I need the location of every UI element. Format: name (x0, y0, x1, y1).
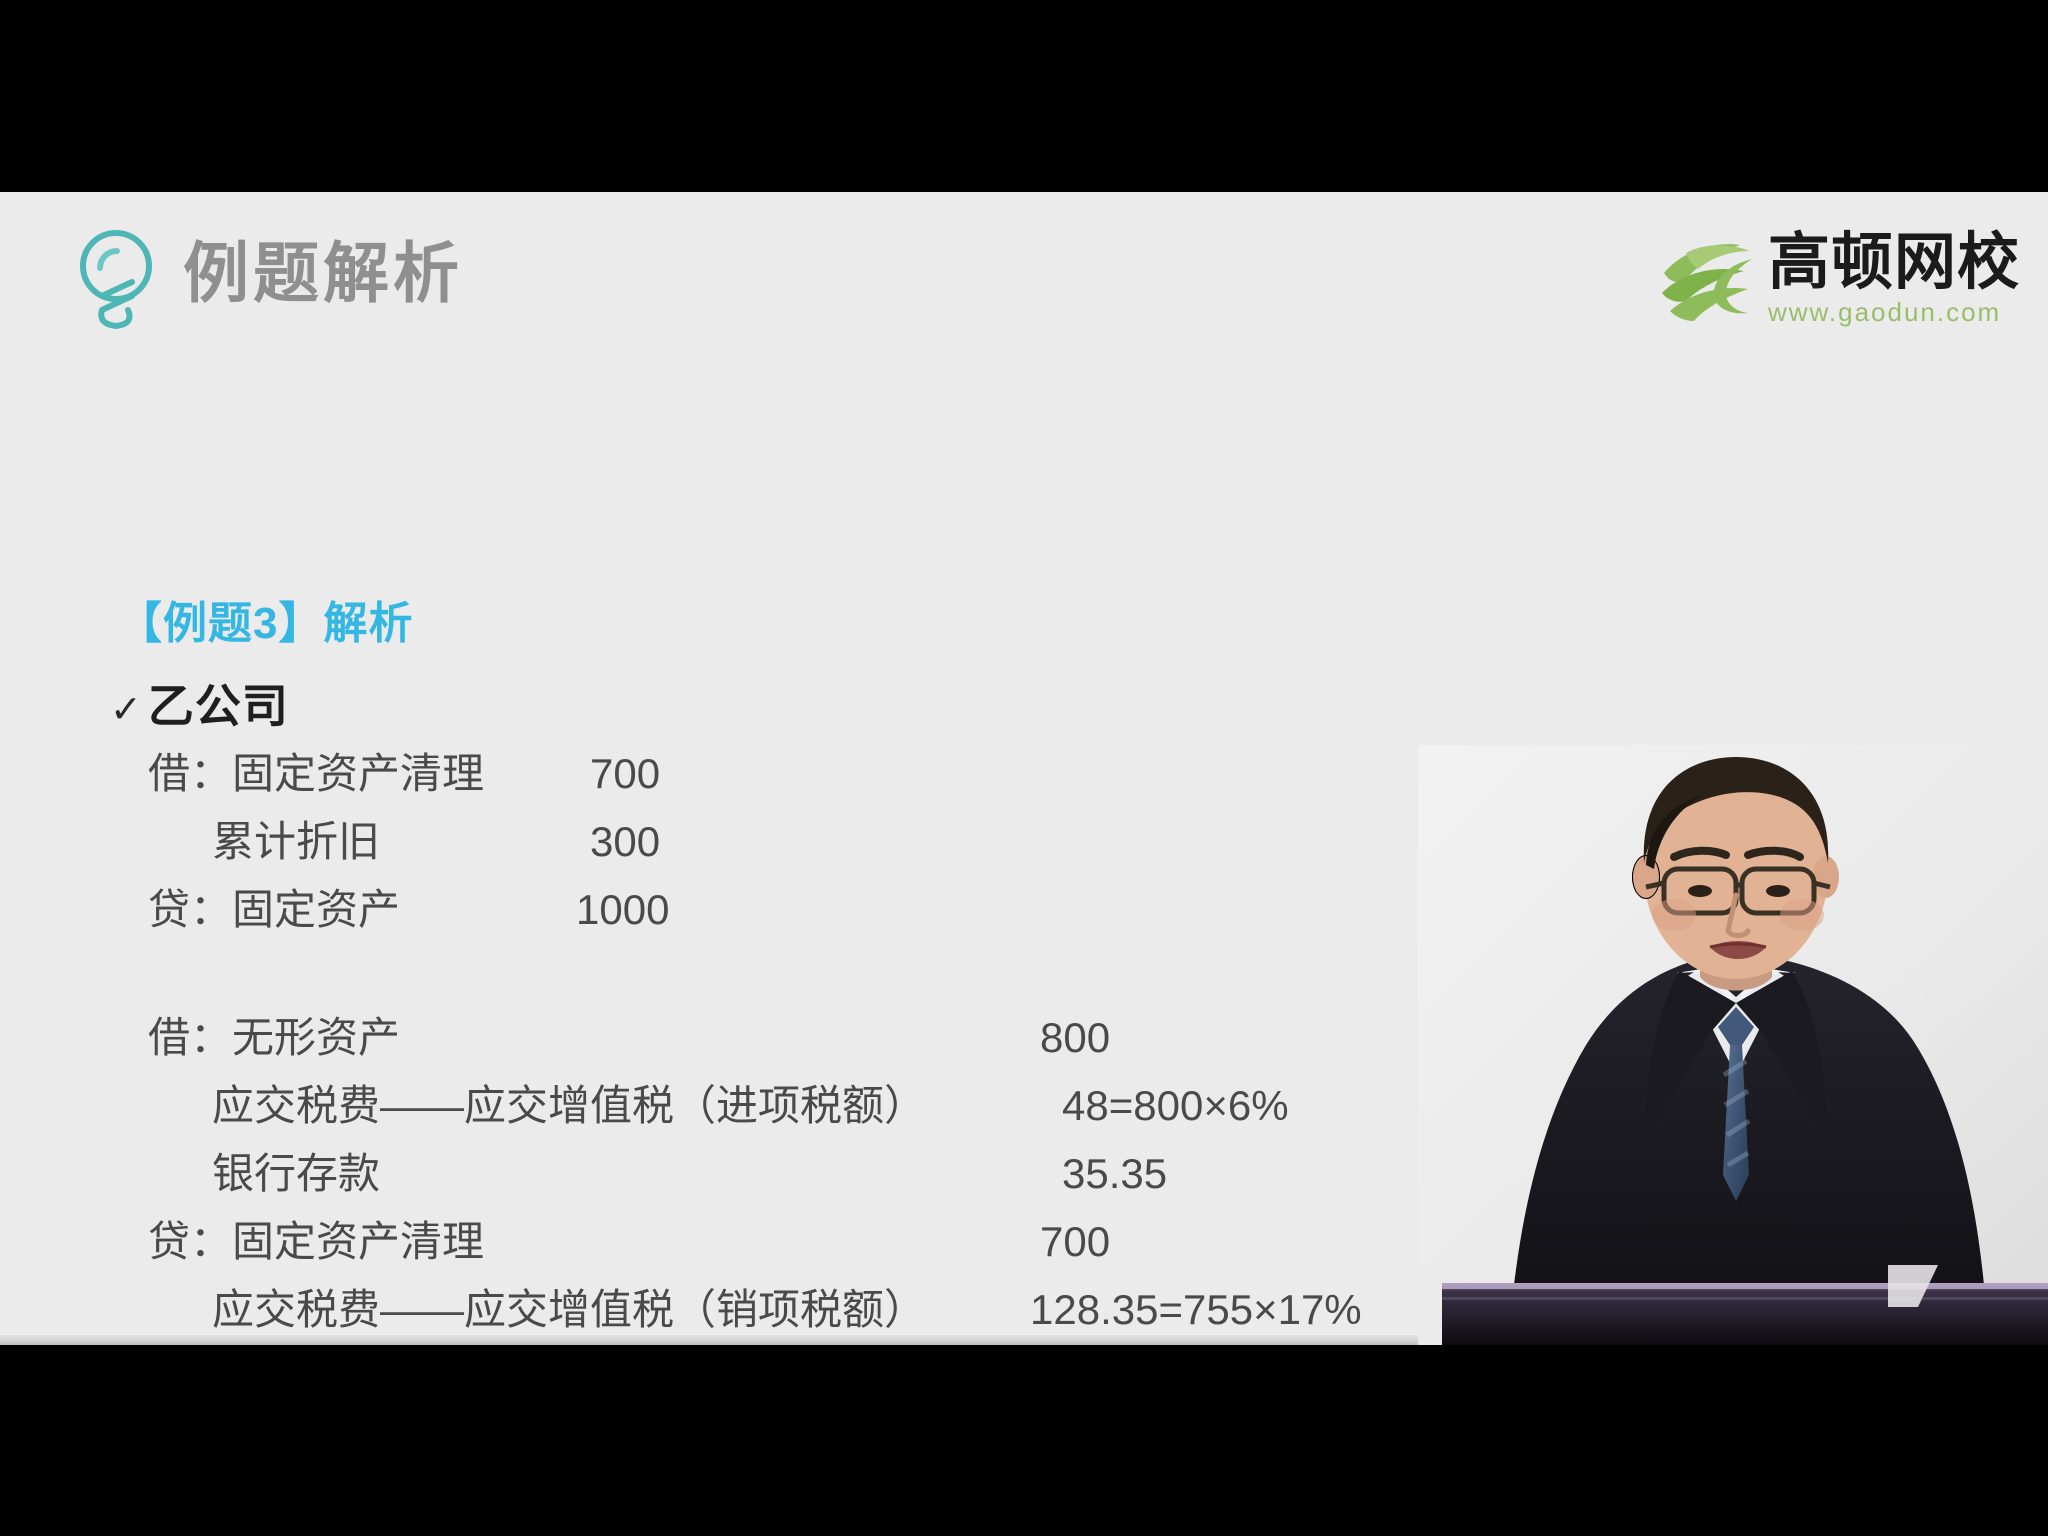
entry-amount: 128.35=755×17% (1030, 1276, 1362, 1344)
entry-account-label: 贷：固定资产清理 (148, 1208, 484, 1276)
entry-account-label: 银行存款 (212, 1140, 380, 1208)
gaodun-leaf-logo-icon (1656, 231, 1762, 327)
entry-account-label: 累计折旧 (212, 808, 380, 876)
entry-amount: 800 (1040, 1004, 1110, 1072)
entry-account-label: 借：无形资产 (148, 1004, 400, 1072)
entry-account-label: 借：固定资产清理 (148, 740, 484, 808)
entry-amount: 300 (590, 808, 660, 876)
entry-amount: 1000 (576, 876, 669, 944)
brand-url: www.gaodun.com (1768, 297, 2020, 327)
check-icon: ✓ (110, 687, 142, 732)
entry-amount: 700 (1040, 1208, 1110, 1276)
entry-account-label: 贷：固定资产 (148, 876, 400, 944)
letterbox-top (0, 0, 2048, 192)
brand-logo: 高顿网校 www.gaodun.com (1656, 224, 2020, 334)
presentation-slide: 例题解析 高顿网校 www.gaodun.com (0, 192, 2048, 1345)
video-player-screen: 例题解析 高顿网校 www.gaodun.com (0, 0, 2048, 1536)
entry-account-label: 应交税费——应交增值税（进项税额） (212, 1072, 926, 1140)
page-title: 例题解析 (183, 230, 463, 316)
entry-amount: 700 (590, 740, 660, 808)
company-heading: ✓ 乙公司 (110, 670, 289, 736)
lightbulb-icon (70, 224, 162, 334)
entry-amount: 48=800×6% (1062, 1072, 1289, 1140)
example-heading: 【例题3】解析 (118, 587, 413, 651)
entry-account-label: 应交税费——应交增值税（销项税额） (212, 1276, 926, 1344)
instructor-video[interactable] (1418, 745, 2048, 1345)
company-name: 乙公司 (148, 670, 289, 736)
entry-amount: 35.35 (1062, 1140, 1167, 1208)
slide-header: 例题解析 高顿网校 www.gaodun.com (0, 192, 2048, 352)
letterbox-bottom (0, 1345, 2048, 1536)
brand-name: 高顿网校 (1768, 231, 2020, 295)
